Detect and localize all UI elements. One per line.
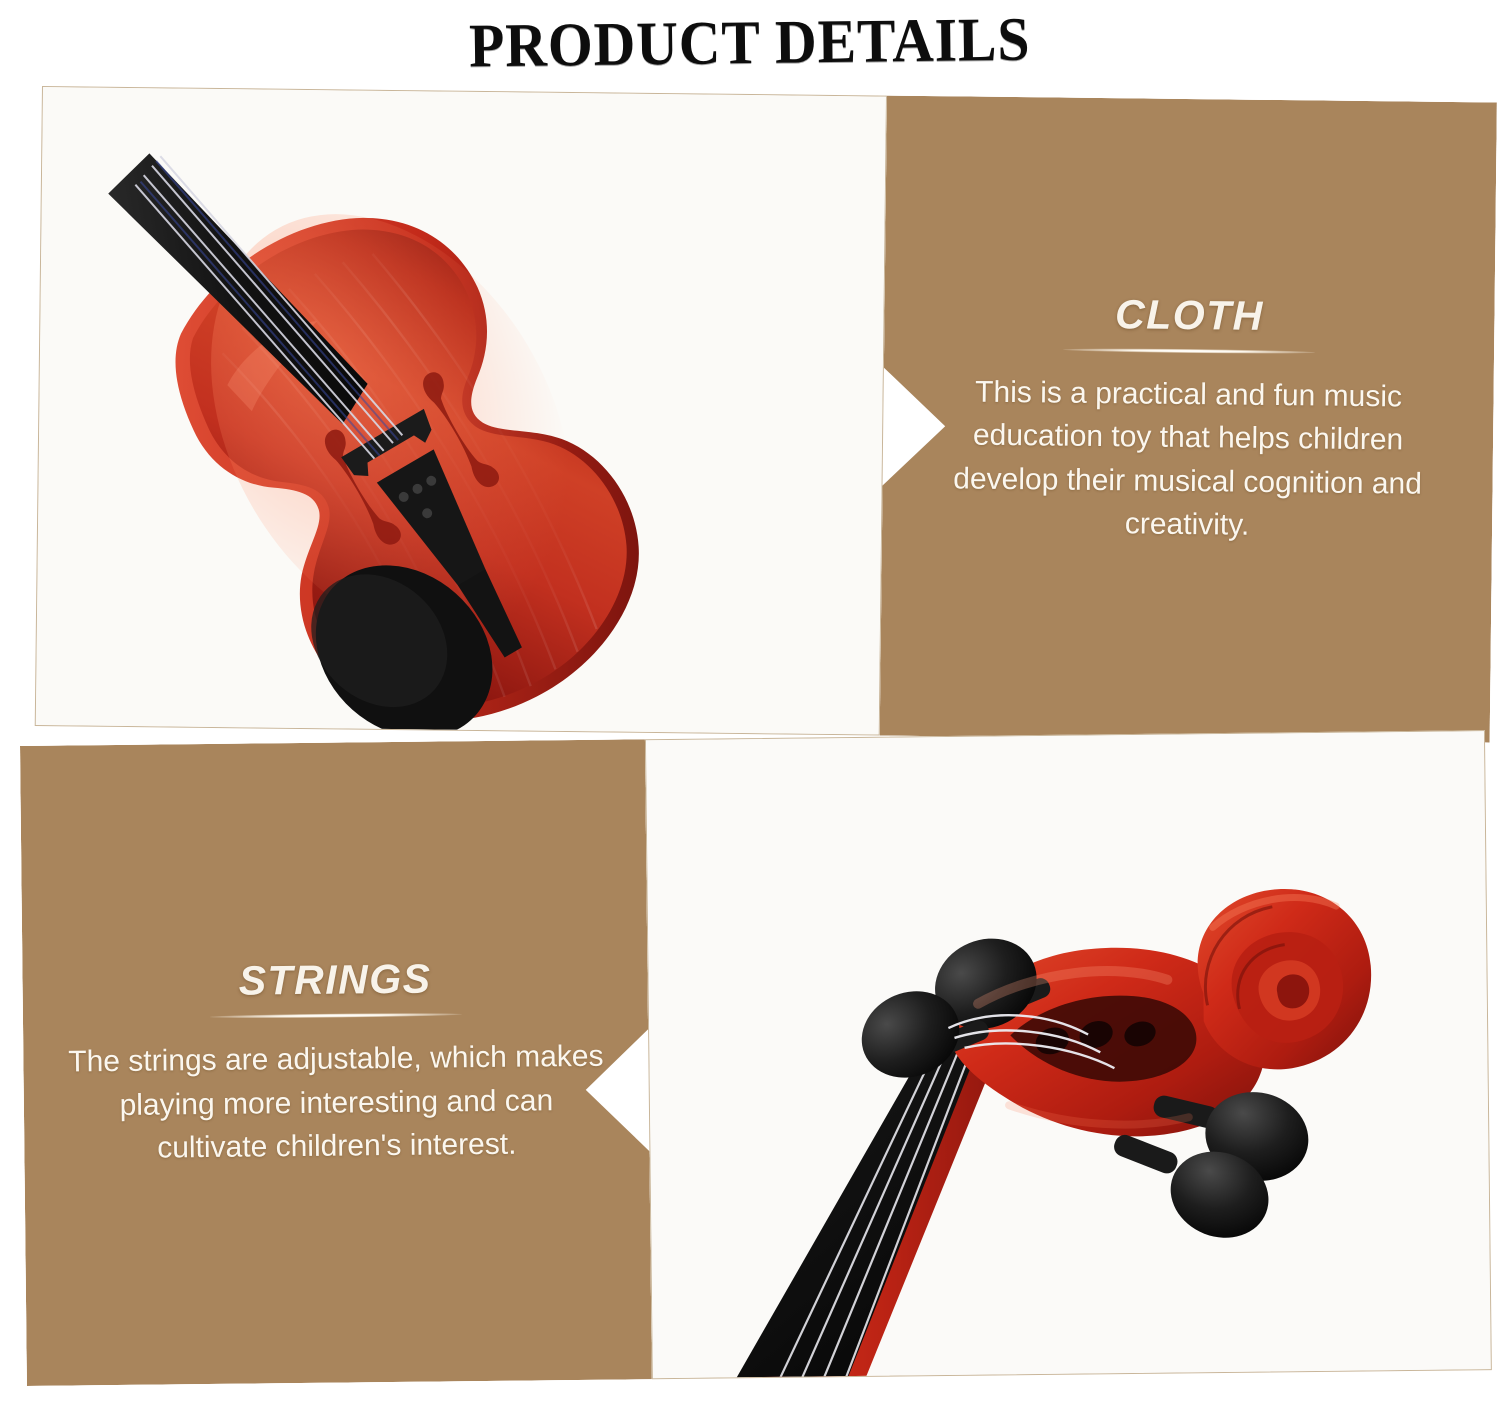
product-details-page: PRODUCT DETAILS	[0, 0, 1500, 1427]
violin-body-photo	[35, 86, 887, 736]
strings-body-text: The strings are adjustable, which makes …	[65, 1035, 607, 1171]
strings-heading: STRINGS	[238, 956, 431, 1005]
page-title-container: PRODUCT DETAILS	[0, 0, 1500, 86]
strings-text-panel: STRINGS The strings are adjustable, whic…	[20, 739, 652, 1386]
cloth-divider	[1063, 347, 1315, 354]
violin-scroll-illustration	[646, 731, 1491, 1378]
cloth-heading: CLOTH	[1115, 291, 1264, 340]
cloth-body-text: This is a practical and fun music educat…	[924, 370, 1452, 550]
cloth-text-panel: CLOTH This is a practical and fun music …	[880, 96, 1497, 743]
violin-scroll-photo	[645, 730, 1492, 1379]
page-title: PRODUCT DETAILS	[469, 4, 1031, 82]
strings-divider	[209, 1012, 461, 1019]
violin-body-illustration	[36, 87, 886, 735]
section-cloth: CLOTH This is a practical and fun music …	[35, 86, 1497, 742]
section-strings: STRINGS The strings are adjustable, whic…	[20, 730, 1492, 1386]
